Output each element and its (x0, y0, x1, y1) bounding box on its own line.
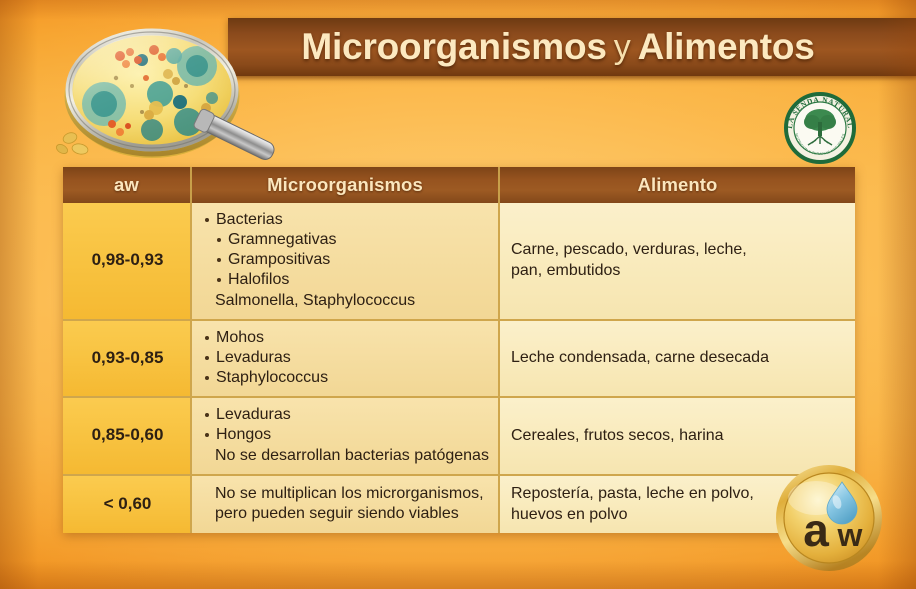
food-line: pan, embutidos (511, 260, 846, 281)
aw-letter-w: w (837, 517, 863, 553)
magnifying-glass-icon (56, 16, 296, 164)
poster-canvas: Microorganismos y Alimentos (0, 0, 916, 589)
cell-microorganisms: Bacterias Gramnegativas Grampositivas Ha… (191, 203, 499, 320)
title-main: Microorganismos (301, 26, 606, 68)
microorganism-list: Mohos Levaduras Staphylococcus (203, 328, 489, 388)
brand-logo[interactable]: LA SENDA NATURAL NUTRICION Y TERAPIAS NA… (782, 92, 858, 164)
list-item: Staphylococcus (203, 368, 489, 388)
table-header-row: aw Microorganismos Alimento (63, 167, 855, 203)
aw-microorganisms-table: aw Microorganismos Alimento 0,98-0,93 Ba… (63, 167, 855, 533)
cell-aw: < 0,60 (63, 475, 191, 534)
title-secondary: Alimentos (638, 26, 815, 68)
title-connector: y (614, 28, 631, 67)
note-line: pero pueden seguir siendo viables (203, 504, 489, 524)
food-line: Cereales, frutos secos, harina (511, 425, 846, 446)
petri-dish-illustration (56, 16, 296, 164)
list-item: Gramnegativas (203, 230, 489, 250)
aw-badge[interactable]: a w (772, 462, 886, 574)
cell-aw: 0,93-0,85 (63, 320, 191, 397)
aw-letter-a: a (803, 504, 829, 556)
list-item: Grampositivas (203, 250, 489, 270)
list-item: Levaduras (203, 348, 489, 368)
list-item: Hongos (203, 425, 489, 445)
cell-microorganisms: Levaduras Hongos No se desarrollan bacte… (191, 397, 499, 474)
cell-aw: 0,85-0,60 (63, 397, 191, 474)
note-line: No se multiplican los microrganismos, (203, 484, 489, 504)
microorganism-list: Levaduras Hongos No se desarrollan bacte… (203, 405, 489, 465)
column-header-food: Alimento (499, 167, 855, 203)
microorganism-list: Bacterias Gramnegativas Grampositivas Ha… (203, 210, 489, 311)
aw-water-activity-icon: a w (772, 462, 886, 574)
page-title: Microorganismos y Alimentos (228, 20, 888, 74)
list-item: Levaduras (203, 405, 489, 425)
cell-microorganisms: No se multiplican los microrganismos, pe… (191, 475, 499, 534)
list-item: No se desarrollan bacterias patógenas (203, 446, 489, 466)
cell-food: Carne, pescado, verduras, leche, pan, em… (499, 203, 855, 320)
list-item: Mohos (203, 328, 489, 348)
food-line: Carne, pescado, verduras, leche, (511, 239, 846, 260)
table-row: 0,93-0,85 Mohos Levaduras Staphylococcus… (63, 320, 855, 397)
table-row: < 0,60 No se multiplican los microrganis… (63, 475, 855, 534)
table-row: 0,98-0,93 Bacterias Gramnegativas Grampo… (63, 203, 855, 320)
cell-aw: 0,98-0,93 (63, 203, 191, 320)
list-item: Salmonella, Staphylococcus (203, 291, 489, 311)
list-item: Bacterias (203, 210, 489, 230)
cell-food: Leche condensada, carne desecada (499, 320, 855, 397)
column-header-micro: Microorganismos (191, 167, 499, 203)
food-line: Leche condensada, carne desecada (511, 347, 846, 368)
la-senda-natural-logo-icon: LA SENDA NATURAL NUTRICION Y TERAPIAS NA… (782, 92, 858, 164)
cell-microorganisms: Mohos Levaduras Staphylococcus (191, 320, 499, 397)
list-item: Halofilos (203, 270, 489, 290)
column-header-aw: aw (63, 167, 191, 203)
table-row: 0,85-0,60 Levaduras Hongos No se desarro… (63, 397, 855, 474)
